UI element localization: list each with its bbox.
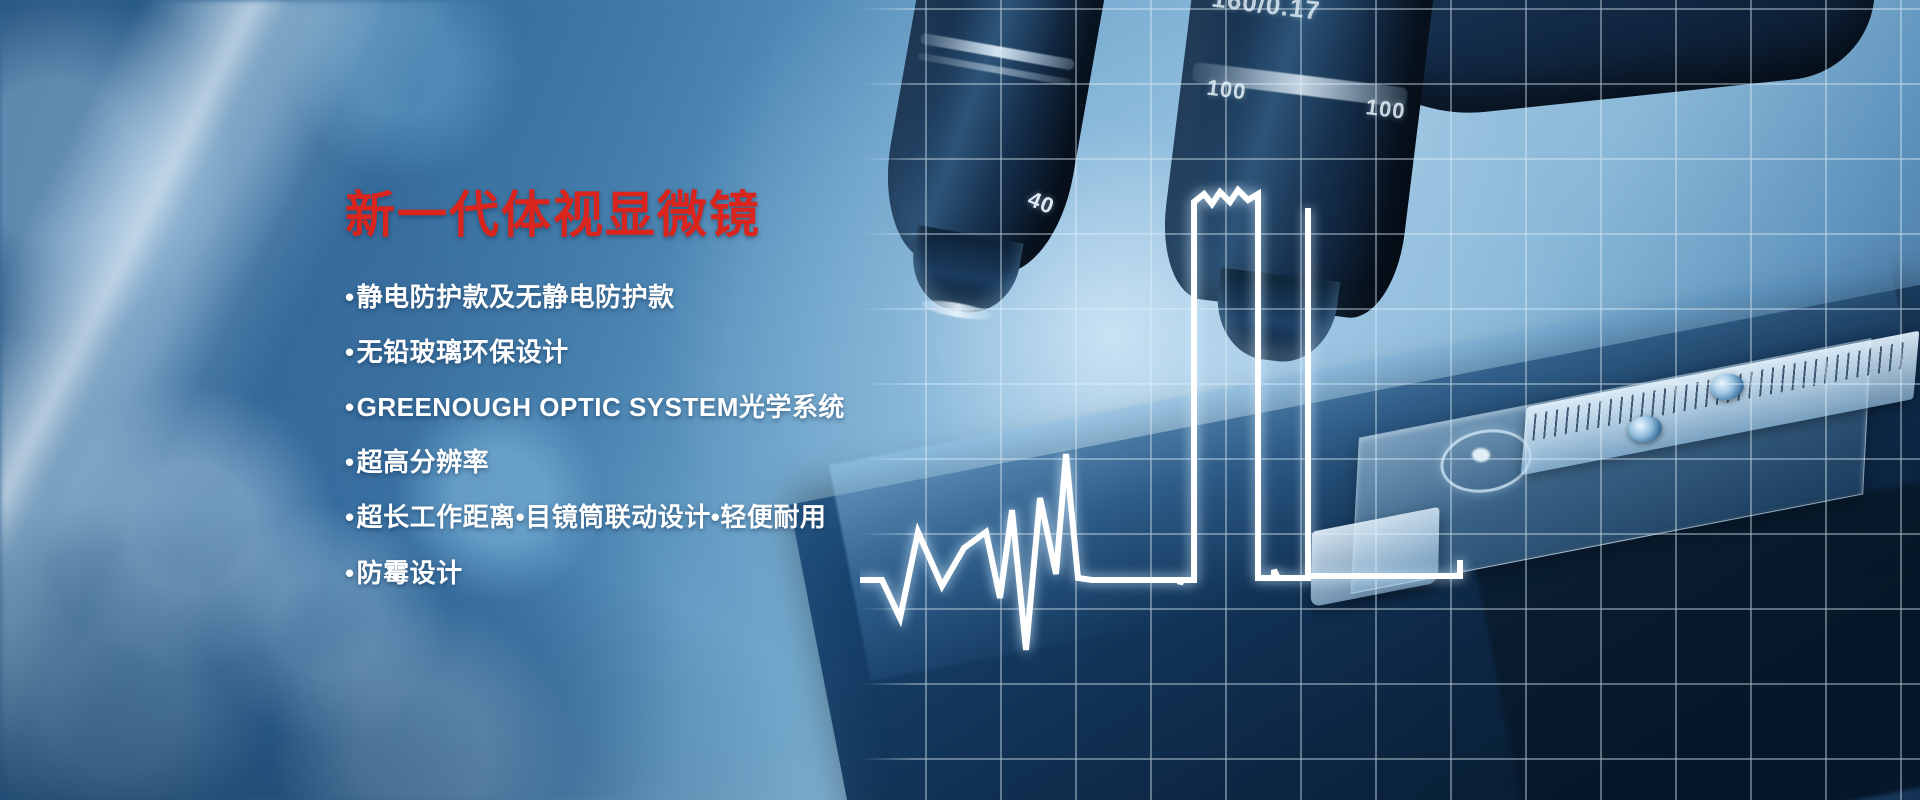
feature-bullet-1: •静电防护款及无静电防护款 [345, 283, 1045, 312]
bullet-marker-4: • [345, 447, 355, 477]
feature-bullet-2-text: 无铅玻璃环保设计 [357, 337, 569, 367]
feature-bullet-6-text: 防霉设计 [357, 558, 463, 588]
feature-bullet-3-text: GREENOUGH OPTIC SYSTEM光学系统 [357, 392, 845, 422]
bullet-marker-5: • [345, 502, 355, 532]
feature-bullet-4-text: 超高分辨率 [357, 447, 490, 477]
feature-bullet-5: •超长工作距离•目镜筒联动设计•轻便耐用 [345, 503, 1045, 532]
feature-bullet-1-text: 静电防护款及无静电防护款 [357, 282, 675, 312]
feature-bullet-6: •防霉设计 [345, 559, 1045, 588]
page-title: 新一代体视显微镜 [345, 188, 1045, 243]
feature-bullet-5-text: 超长工作距离•目镜筒联动设计•轻便耐用 [357, 502, 827, 532]
bullet-marker-3: • [345, 392, 355, 422]
bullet-marker-2: • [345, 337, 355, 367]
feature-bullet-2: •无铅玻璃环保设计 [345, 338, 1045, 367]
feature-bullet-4: •超高分辨率 [345, 448, 1045, 477]
banner-copy: 新一代体视显微镜 •静电防护款及无静电防护款 •无铅玻璃环保设计 •GREENO… [345, 188, 1045, 614]
bullet-marker-1: • [345, 282, 355, 312]
bullet-marker-6: • [345, 558, 355, 588]
feature-bullet-3: •GREENOUGH OPTIC SYSTEM光学系统 [345, 393, 1045, 422]
product-banner: 40 100/1.25 160/0.17 100 100 新一代体视显微 [0, 0, 1920, 800]
